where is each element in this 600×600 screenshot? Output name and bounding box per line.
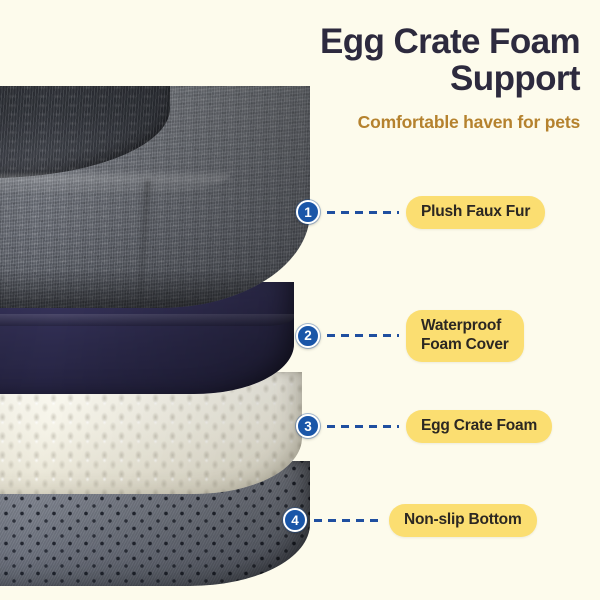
- product-layer-stack-image: [0, 86, 320, 600]
- callout-label-3: Egg Crate Foam: [406, 410, 552, 443]
- callout-badge-1: 1: [296, 200, 320, 224]
- callout-leader-line-4: [314, 519, 382, 522]
- callout-label-2: Waterproof Foam Cover: [406, 310, 524, 362]
- callout-label-1: Plush Faux Fur: [406, 196, 545, 229]
- title-line-1: Egg Crate Foam: [320, 22, 580, 61]
- title-line-2: Support: [225, 61, 580, 98]
- callout-label-3-line-1: Egg Crate Foam: [421, 417, 537, 436]
- callout-label-2-line-2: Foam Cover: [421, 336, 509, 355]
- fur-bottom-shading: [0, 268, 310, 308]
- callout-leader-line-3: [327, 425, 399, 428]
- callout-label-4-line-1: Non-slip Bottom: [404, 511, 522, 530]
- cover-seam-line: [0, 314, 294, 326]
- infographic-canvas: Egg Crate Foam Support Comfortable haven…: [0, 0, 600, 600]
- callout-waterproof-foam-cover: 2 Waterproof Foam Cover: [296, 310, 524, 362]
- callout-label-1-line-1: Plush Faux Fur: [421, 203, 530, 222]
- callout-leader-line-2: [327, 334, 399, 337]
- callout-label-2-line-1: Waterproof: [421, 317, 509, 336]
- page-subtitle: Comfortable haven for pets: [225, 112, 580, 133]
- callout-badge-3: 3: [296, 414, 320, 438]
- page-title: Egg Crate Foam Support: [225, 24, 580, 98]
- callout-leader-line-1: [327, 211, 399, 214]
- callout-plush-faux-fur: 1 Plush Faux Fur: [296, 196, 545, 229]
- callout-badge-4: 4: [283, 508, 307, 532]
- callout-label-4: Non-slip Bottom: [389, 504, 537, 537]
- callout-non-slip-bottom: 4 Non-slip Bottom: [283, 504, 537, 537]
- heading-block: Egg Crate Foam Support Comfortable haven…: [225, 24, 580, 133]
- callout-egg-crate-foam: 3 Egg Crate Foam: [296, 410, 552, 443]
- callout-badge-2: 2: [296, 324, 320, 348]
